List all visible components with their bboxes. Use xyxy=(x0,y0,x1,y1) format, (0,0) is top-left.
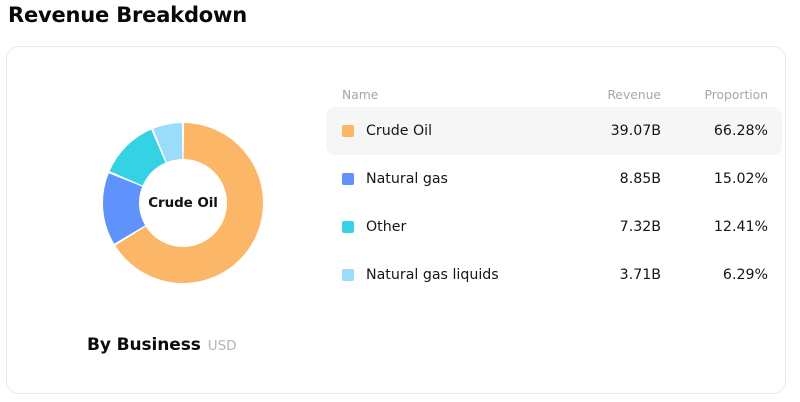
row-proportion-value: 15.02% xyxy=(661,171,768,187)
legend-table: Name Revenue Proportion Crude Oil39.07B6… xyxy=(326,83,782,299)
row-name-label: Crude Oil xyxy=(366,123,432,139)
legend-swatch-icon xyxy=(342,125,354,137)
row-revenue-value: 7.32B xyxy=(543,219,661,235)
legend-table-body: Crude Oil39.07B66.28%Natural gas8.85B15.… xyxy=(326,107,782,299)
chart-caption-currency: USD xyxy=(208,338,237,354)
revenue-breakdown-card: Crude Oil By Business USD Name Revenue P… xyxy=(6,46,786,394)
row-name-label: Natural gas liquids xyxy=(366,267,499,283)
table-row[interactable]: Other7.32B12.41% xyxy=(326,203,782,251)
row-proportion-value: 66.28% xyxy=(661,123,768,139)
table-row[interactable]: Natural gas liquids3.71B6.29% xyxy=(326,251,782,299)
row-proportion-value: 12.41% xyxy=(661,219,768,235)
table-row[interactable]: Natural gas8.85B15.02% xyxy=(326,155,782,203)
row-revenue-value: 39.07B xyxy=(543,123,661,139)
row-name-cell: Natural gas liquids xyxy=(342,267,543,283)
row-name-cell: Natural gas xyxy=(342,171,543,187)
chart-caption-title: By Business xyxy=(87,335,201,355)
donut-chart-svg xyxy=(101,121,265,285)
column-header-revenue: Revenue xyxy=(543,88,661,102)
column-header-proportion: Proportion xyxy=(661,88,768,102)
row-proportion-value: 6.29% xyxy=(661,267,768,283)
row-revenue-value: 8.85B xyxy=(543,171,661,187)
legend-swatch-icon xyxy=(342,173,354,185)
donut-chart[interactable]: Crude Oil xyxy=(101,121,265,285)
row-name-label: Other xyxy=(366,219,406,235)
row-name-label: Natural gas xyxy=(366,171,448,187)
legend-swatch-icon xyxy=(342,221,354,233)
chart-caption: By Business USD xyxy=(87,335,237,355)
row-name-cell: Crude Oil xyxy=(342,123,543,139)
row-name-cell: Other xyxy=(342,219,543,235)
table-row[interactable]: Crude Oil39.07B66.28% xyxy=(326,107,782,155)
page-title: Revenue Breakdown xyxy=(8,3,247,27)
column-header-name: Name xyxy=(342,88,543,102)
legend-table-header: Name Revenue Proportion xyxy=(326,83,782,107)
row-revenue-value: 3.71B xyxy=(543,267,661,283)
legend-swatch-icon xyxy=(342,269,354,281)
